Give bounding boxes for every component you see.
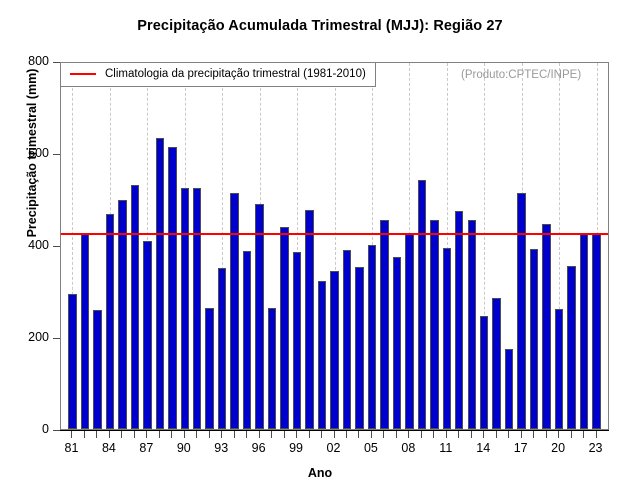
x-tick-2019 [546, 431, 547, 438]
x-tick-2016 [508, 431, 509, 438]
x-tick-1981 [71, 431, 72, 438]
legend-item-label: Climatologia da precipitação trimestral … [105, 68, 366, 80]
y-tick-800 [53, 62, 60, 63]
x-tick-1988 [159, 431, 160, 438]
x-tick-1994 [234, 431, 235, 438]
bar-1991 [193, 188, 201, 429]
bar-2020 [555, 309, 563, 429]
x-tick-2018 [533, 431, 534, 438]
x-tick-label-87: 87 [126, 441, 166, 455]
bar-2014 [480, 316, 488, 429]
bar-1986 [131, 185, 139, 429]
bar-2017 [517, 193, 525, 429]
bar-1998 [280, 227, 288, 429]
x-tick-1984 [109, 431, 110, 438]
bar-1990 [181, 188, 189, 429]
x-tick-2020 [558, 431, 559, 438]
plot-area [60, 62, 609, 430]
x-tick-1993 [221, 431, 222, 438]
bar-1984 [106, 214, 114, 429]
y-tick-label-400: 400 [0, 238, 49, 252]
x-tick-2008 [408, 431, 409, 438]
bar-1988 [156, 138, 164, 429]
y-tick-label-600: 600 [0, 146, 49, 160]
x-tick-label-81: 81 [51, 441, 91, 455]
bar-1997 [268, 308, 276, 429]
x-tick-label-17: 17 [501, 441, 541, 455]
x-tick-label-08: 08 [388, 441, 428, 455]
x-tick-1999 [296, 431, 297, 438]
bar-2023 [592, 234, 600, 430]
bar-1981 [68, 294, 76, 429]
x-axis-title: Ano [0, 466, 640, 480]
x-tick-label-99: 99 [276, 441, 316, 455]
bar-1994 [230, 193, 238, 429]
x-axis-line [60, 430, 609, 431]
x-tick-1985 [121, 431, 122, 438]
x-tick-2013 [471, 431, 472, 438]
x-tick-label-11: 11 [426, 441, 466, 455]
x-tick-2004 [358, 431, 359, 438]
page-title: Precipitação Acumulada Trimestral (MJJ):… [0, 18, 640, 34]
x-tick-2021 [571, 431, 572, 438]
x-tick-1982 [84, 431, 85, 438]
x-tick-2011 [446, 431, 447, 438]
x-tick-2001 [321, 431, 322, 438]
x-tick-2005 [371, 431, 372, 438]
x-tick-2003 [346, 431, 347, 438]
bar-1992 [205, 308, 213, 429]
climatology-reference-line [61, 233, 608, 235]
x-tick-label-02: 02 [314, 441, 354, 455]
x-tick-2014 [483, 431, 484, 438]
y-tick-0 [53, 430, 60, 431]
chart-figure: Precipitação Acumulada Trimestral (MJJ):… [0, 0, 640, 500]
bar-1983 [93, 310, 101, 429]
bar-2016 [505, 349, 513, 430]
bar-2010 [430, 220, 438, 429]
x-tick-1983 [96, 431, 97, 438]
bar-1993 [218, 268, 226, 429]
legend-line-swatch [70, 73, 96, 75]
y-tick-label-200: 200 [0, 330, 49, 344]
x-tick-2012 [458, 431, 459, 438]
x-tick-label-14: 14 [463, 441, 503, 455]
x-tick-label-90: 90 [164, 441, 204, 455]
x-tick-1986 [134, 431, 135, 438]
x-tick-2002 [334, 431, 335, 438]
bar-2021 [567, 266, 575, 429]
bar-2019 [542, 224, 550, 429]
bar-2013 [468, 220, 476, 429]
bar-2008 [405, 233, 413, 429]
x-tick-1997 [271, 431, 272, 438]
x-tick-2000 [309, 431, 310, 438]
bar-2002 [330, 271, 338, 429]
bar-2011 [443, 248, 451, 429]
bar-2004 [355, 267, 363, 429]
bar-2009 [418, 180, 426, 429]
y-tick-200 [53, 338, 60, 339]
x-tick-1990 [184, 431, 185, 438]
bar-2003 [343, 250, 351, 429]
bar-1995 [243, 251, 251, 429]
x-tick-2010 [433, 431, 434, 438]
bar-2005 [368, 245, 376, 429]
bar-1989 [168, 147, 176, 429]
x-tick-2015 [496, 431, 497, 438]
x-tick-2006 [383, 431, 384, 438]
x-tick-label-23: 23 [576, 441, 616, 455]
bar-2022 [580, 234, 588, 430]
x-tick-1991 [196, 431, 197, 438]
y-axis-title: Precipitação trimestral (mm) [25, 0, 39, 333]
x-tick-1995 [246, 431, 247, 438]
y-tick-label-800: 800 [0, 54, 49, 68]
y-tick-label-0: 0 [0, 422, 49, 436]
x-tick-2007 [396, 431, 397, 438]
x-tick-label-93: 93 [201, 441, 241, 455]
bar-1999 [293, 252, 301, 429]
y-tick-600 [53, 154, 60, 155]
x-tick-label-20: 20 [538, 441, 578, 455]
bar-1987 [143, 241, 151, 429]
bar-1996 [255, 204, 263, 429]
bar-2018 [530, 249, 538, 429]
bar-2001 [318, 281, 326, 429]
x-tick-1987 [146, 431, 147, 438]
bar-1982 [81, 233, 89, 429]
bar-2015 [492, 298, 500, 429]
x-tick-1992 [209, 431, 210, 438]
x-tick-label-84: 84 [89, 441, 129, 455]
bar-2000 [305, 210, 313, 429]
x-tick-2017 [521, 431, 522, 438]
x-tick-2009 [421, 431, 422, 438]
legend: Climatologia da precipitação trimestral … [60, 62, 376, 87]
attribution-text: (Produto:CPTEC/INPE) [461, 69, 581, 81]
x-tick-2022 [583, 431, 584, 438]
x-tick-2023 [596, 431, 597, 438]
bar-2006 [380, 220, 388, 429]
y-tick-400 [53, 246, 60, 247]
x-tick-label-96: 96 [239, 441, 279, 455]
bar-2007 [393, 257, 401, 429]
x-tick-1998 [284, 431, 285, 438]
x-tick-1996 [259, 431, 260, 438]
x-tick-label-05: 05 [351, 441, 391, 455]
x-tick-1989 [171, 431, 172, 438]
bar-2012 [455, 211, 463, 429]
